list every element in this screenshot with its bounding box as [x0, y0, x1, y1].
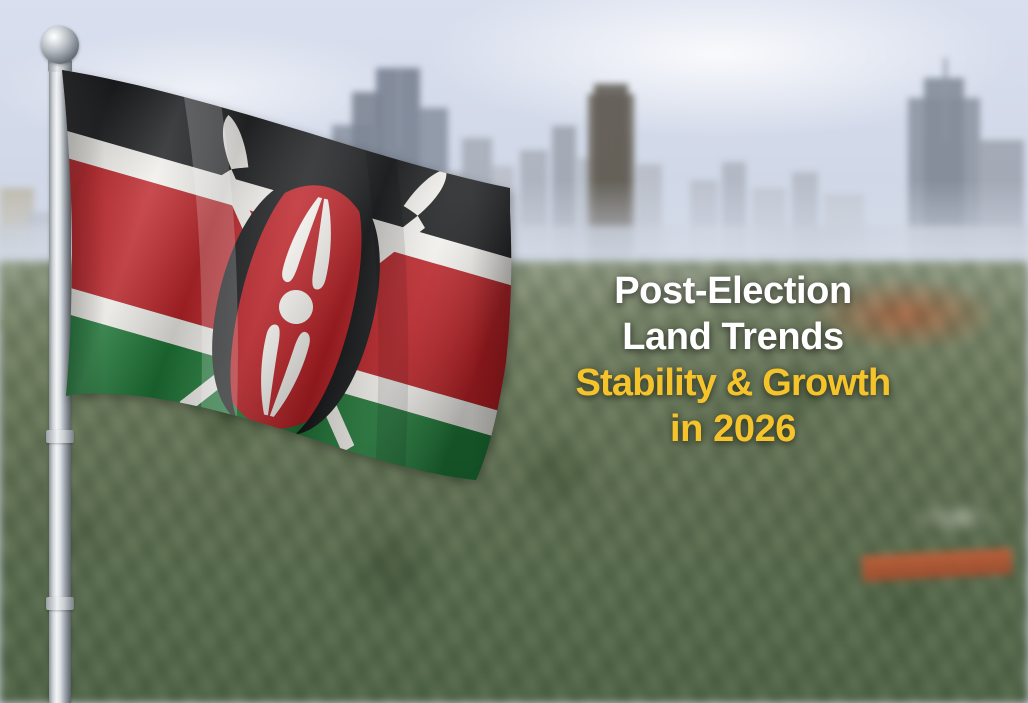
- headline-line-2: Land Trends: [483, 314, 983, 360]
- headline-line-4: in 2026: [483, 406, 983, 452]
- headline-block: Post-Election Land Trends Stability & Gr…: [483, 268, 983, 452]
- flag-body: [58, 62, 528, 532]
- banner-image: Post-Election Land Trends Stability & Gr…: [0, 0, 1028, 703]
- flagpole-finial-ball-icon: [41, 26, 79, 64]
- headline-line-1: Post-Election: [483, 268, 983, 314]
- kenya-flag: [58, 62, 528, 532]
- flagpole-clamp: [46, 597, 74, 610]
- headline-line-3: Stability & Growth: [483, 360, 983, 406]
